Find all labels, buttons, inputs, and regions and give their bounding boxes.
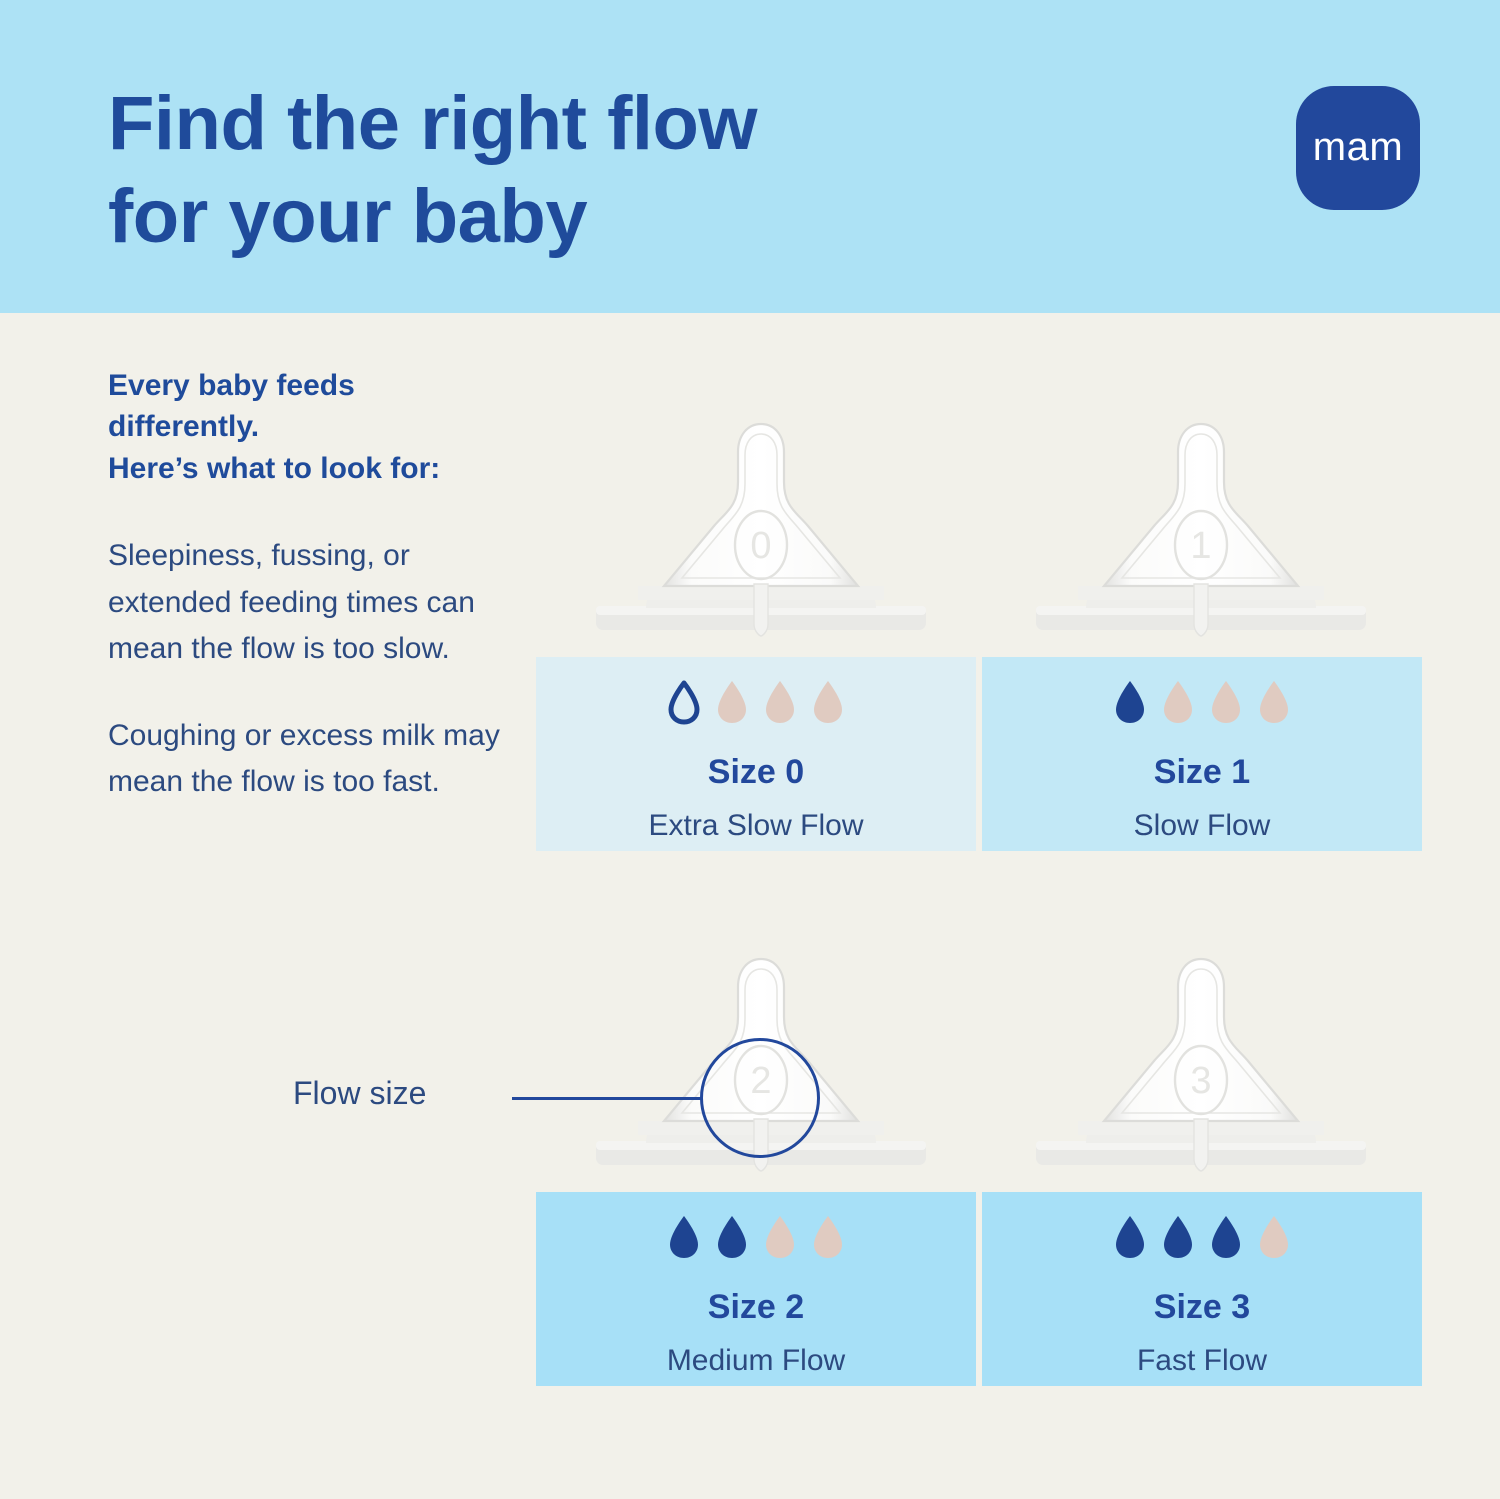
flow-drops-size-2 [667,1214,845,1262]
flow-card-title: Size 1 [1154,755,1250,789]
intro-lede-line-1: Every baby feeds differently. [108,369,355,443]
intro-paragraph-slow-flow: Sleepiness, fussing, or extended feeding… [108,533,508,673]
intro-text-column: Every baby feeds differently. Here’s wha… [108,365,508,846]
flow-card-title: Size 2 [708,1290,804,1324]
logo-wordmark: mam [1313,127,1403,167]
flow-card-subtitle: Slow Flow [1134,811,1271,841]
drop-empty-icon [811,1214,845,1260]
flow-card-title: Size 0 [708,755,804,789]
page-title: Find the right flow for your baby [108,78,1058,263]
headline-line-1: Find the right flow [108,81,757,166]
drop-empty-icon [763,679,797,725]
mam-logo: mam [1296,86,1420,210]
intro-lede: Every baby feeds differently. Here’s wha… [108,365,508,489]
drop-filled-icon [1209,1214,1243,1260]
nipple-image-size-0: 0 [586,362,936,652]
flow-card-size-2[interactable]: Size 2Medium Flow [536,1192,976,1386]
drop-outlined-icon [667,679,701,725]
flow-card-title: Size 3 [1154,1290,1250,1324]
drop-empty-icon [1209,679,1243,725]
nipple-size-mark-1: 1 [1190,525,1211,567]
drop-empty-icon [763,1214,797,1260]
flow-card-subtitle: Medium Flow [667,1346,845,1376]
drop-filled-icon [1113,679,1147,725]
flow-card-size-1[interactable]: Size 1Slow Flow [982,657,1422,851]
drop-empty-icon [715,679,749,725]
drop-empty-icon [1161,679,1195,725]
drop-empty-icon [811,679,845,725]
infographic-page: Find the right flow for your baby mam Ev… [0,0,1500,1499]
flow-size-callout-leader-line [512,1097,702,1100]
intro-paragraph-fast-flow: Coughing or excess milk may mean the flo… [108,713,508,806]
flow-card-size-0[interactable]: Size 0Extra Slow Flow [536,657,976,851]
flow-card-size-3[interactable]: Size 3Fast Flow [982,1192,1422,1386]
nipple-size-mark-3: 3 [1190,1060,1211,1102]
headline-line-2: for your baby [108,171,1058,264]
drop-empty-icon [1257,1214,1291,1260]
drop-filled-icon [715,1214,749,1260]
drop-filled-icon [1161,1214,1195,1260]
header-band: Find the right flow for your baby mam [0,0,1500,313]
nipple-size-mark-0: 0 [750,525,771,567]
flow-drops-size-3 [1113,1214,1291,1262]
flow-drops-size-0 [667,679,845,727]
flow-card-subtitle: Fast Flow [1137,1346,1267,1376]
drop-empty-icon [1257,679,1291,725]
flow-size-callout-label: Flow size [293,1077,426,1109]
flow-size-callout-circle [700,1038,820,1158]
drop-filled-icon [667,1214,701,1260]
nipple-image-size-1: 1 [1026,362,1376,652]
flow-drops-size-1 [1113,679,1291,727]
flow-card-subtitle: Extra Slow Flow [648,811,863,841]
intro-lede-line-2: Here’s what to look for: [108,448,508,489]
nipple-image-size-3: 3 [1026,897,1376,1187]
drop-filled-icon [1113,1214,1147,1260]
